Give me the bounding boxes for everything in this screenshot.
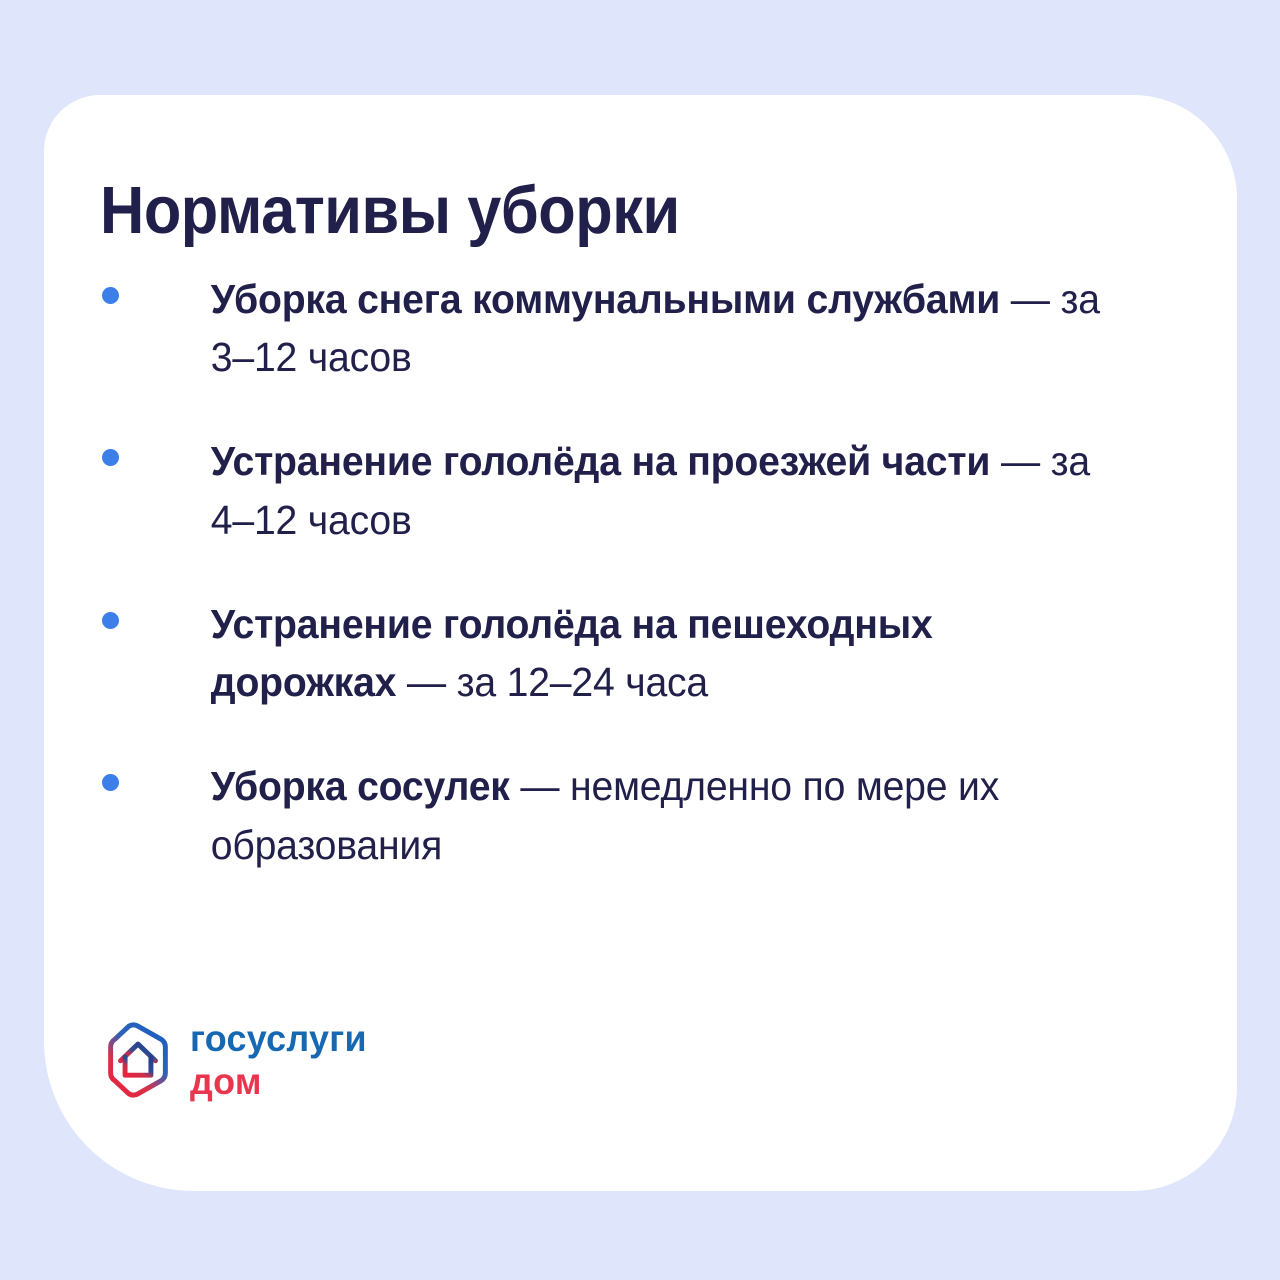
list-item: Устранение гололёда на пешеходных дорожк… xyxy=(100,595,1170,711)
house-hexagon-icon xyxy=(100,1022,176,1098)
list-item-text: Устранение гололёда на проезжей части — … xyxy=(100,432,1122,548)
list-item-lead: Уборка снега коммунальными службами xyxy=(211,276,1000,322)
list-item: Уборка сосулек — немедленно по мере их о… xyxy=(100,757,1170,873)
list-item: Устранение гололёда на проезжей части — … xyxy=(100,432,1170,548)
list-item-text: Уборка снега коммунальными службами — за… xyxy=(100,270,1122,386)
list-item-lead: Уборка сосулек xyxy=(211,763,510,809)
list-item-rest: за 12–24 часа xyxy=(457,659,708,705)
list-item: Уборка снега коммунальными службами — за… xyxy=(100,270,1170,386)
page-title: Нормативы уборки xyxy=(100,177,680,244)
list-item-dash: — xyxy=(510,763,570,809)
poster-canvas: Нормативы уборки Уборка снега коммунальн… xyxy=(0,0,1280,1280)
list-item-dash: — xyxy=(1000,276,1060,322)
list-item-text: Устранение гололёда на пешеходных дорожк… xyxy=(100,595,1122,711)
list-item-text: Уборка сосулек — немедленно по мере их о… xyxy=(100,757,1122,873)
list-item-dash: — xyxy=(990,438,1050,484)
list-item-lead: Устранение гололёда на проезжей части xyxy=(211,438,990,484)
content-card: Нормативы уборки Уборка снега коммунальн… xyxy=(44,95,1237,1191)
logo-wordmark: госуслуги дом xyxy=(190,1020,372,1100)
logo-text-dom: дом xyxy=(190,1063,367,1100)
standards-list: Уборка снега коммунальными службами — за… xyxy=(100,270,1170,874)
gosuslugi-dom-logo: госуслуги дом xyxy=(100,1020,372,1100)
logo-text-gosuslugi: госуслуги xyxy=(190,1020,367,1057)
list-item-dash: — xyxy=(396,659,456,705)
